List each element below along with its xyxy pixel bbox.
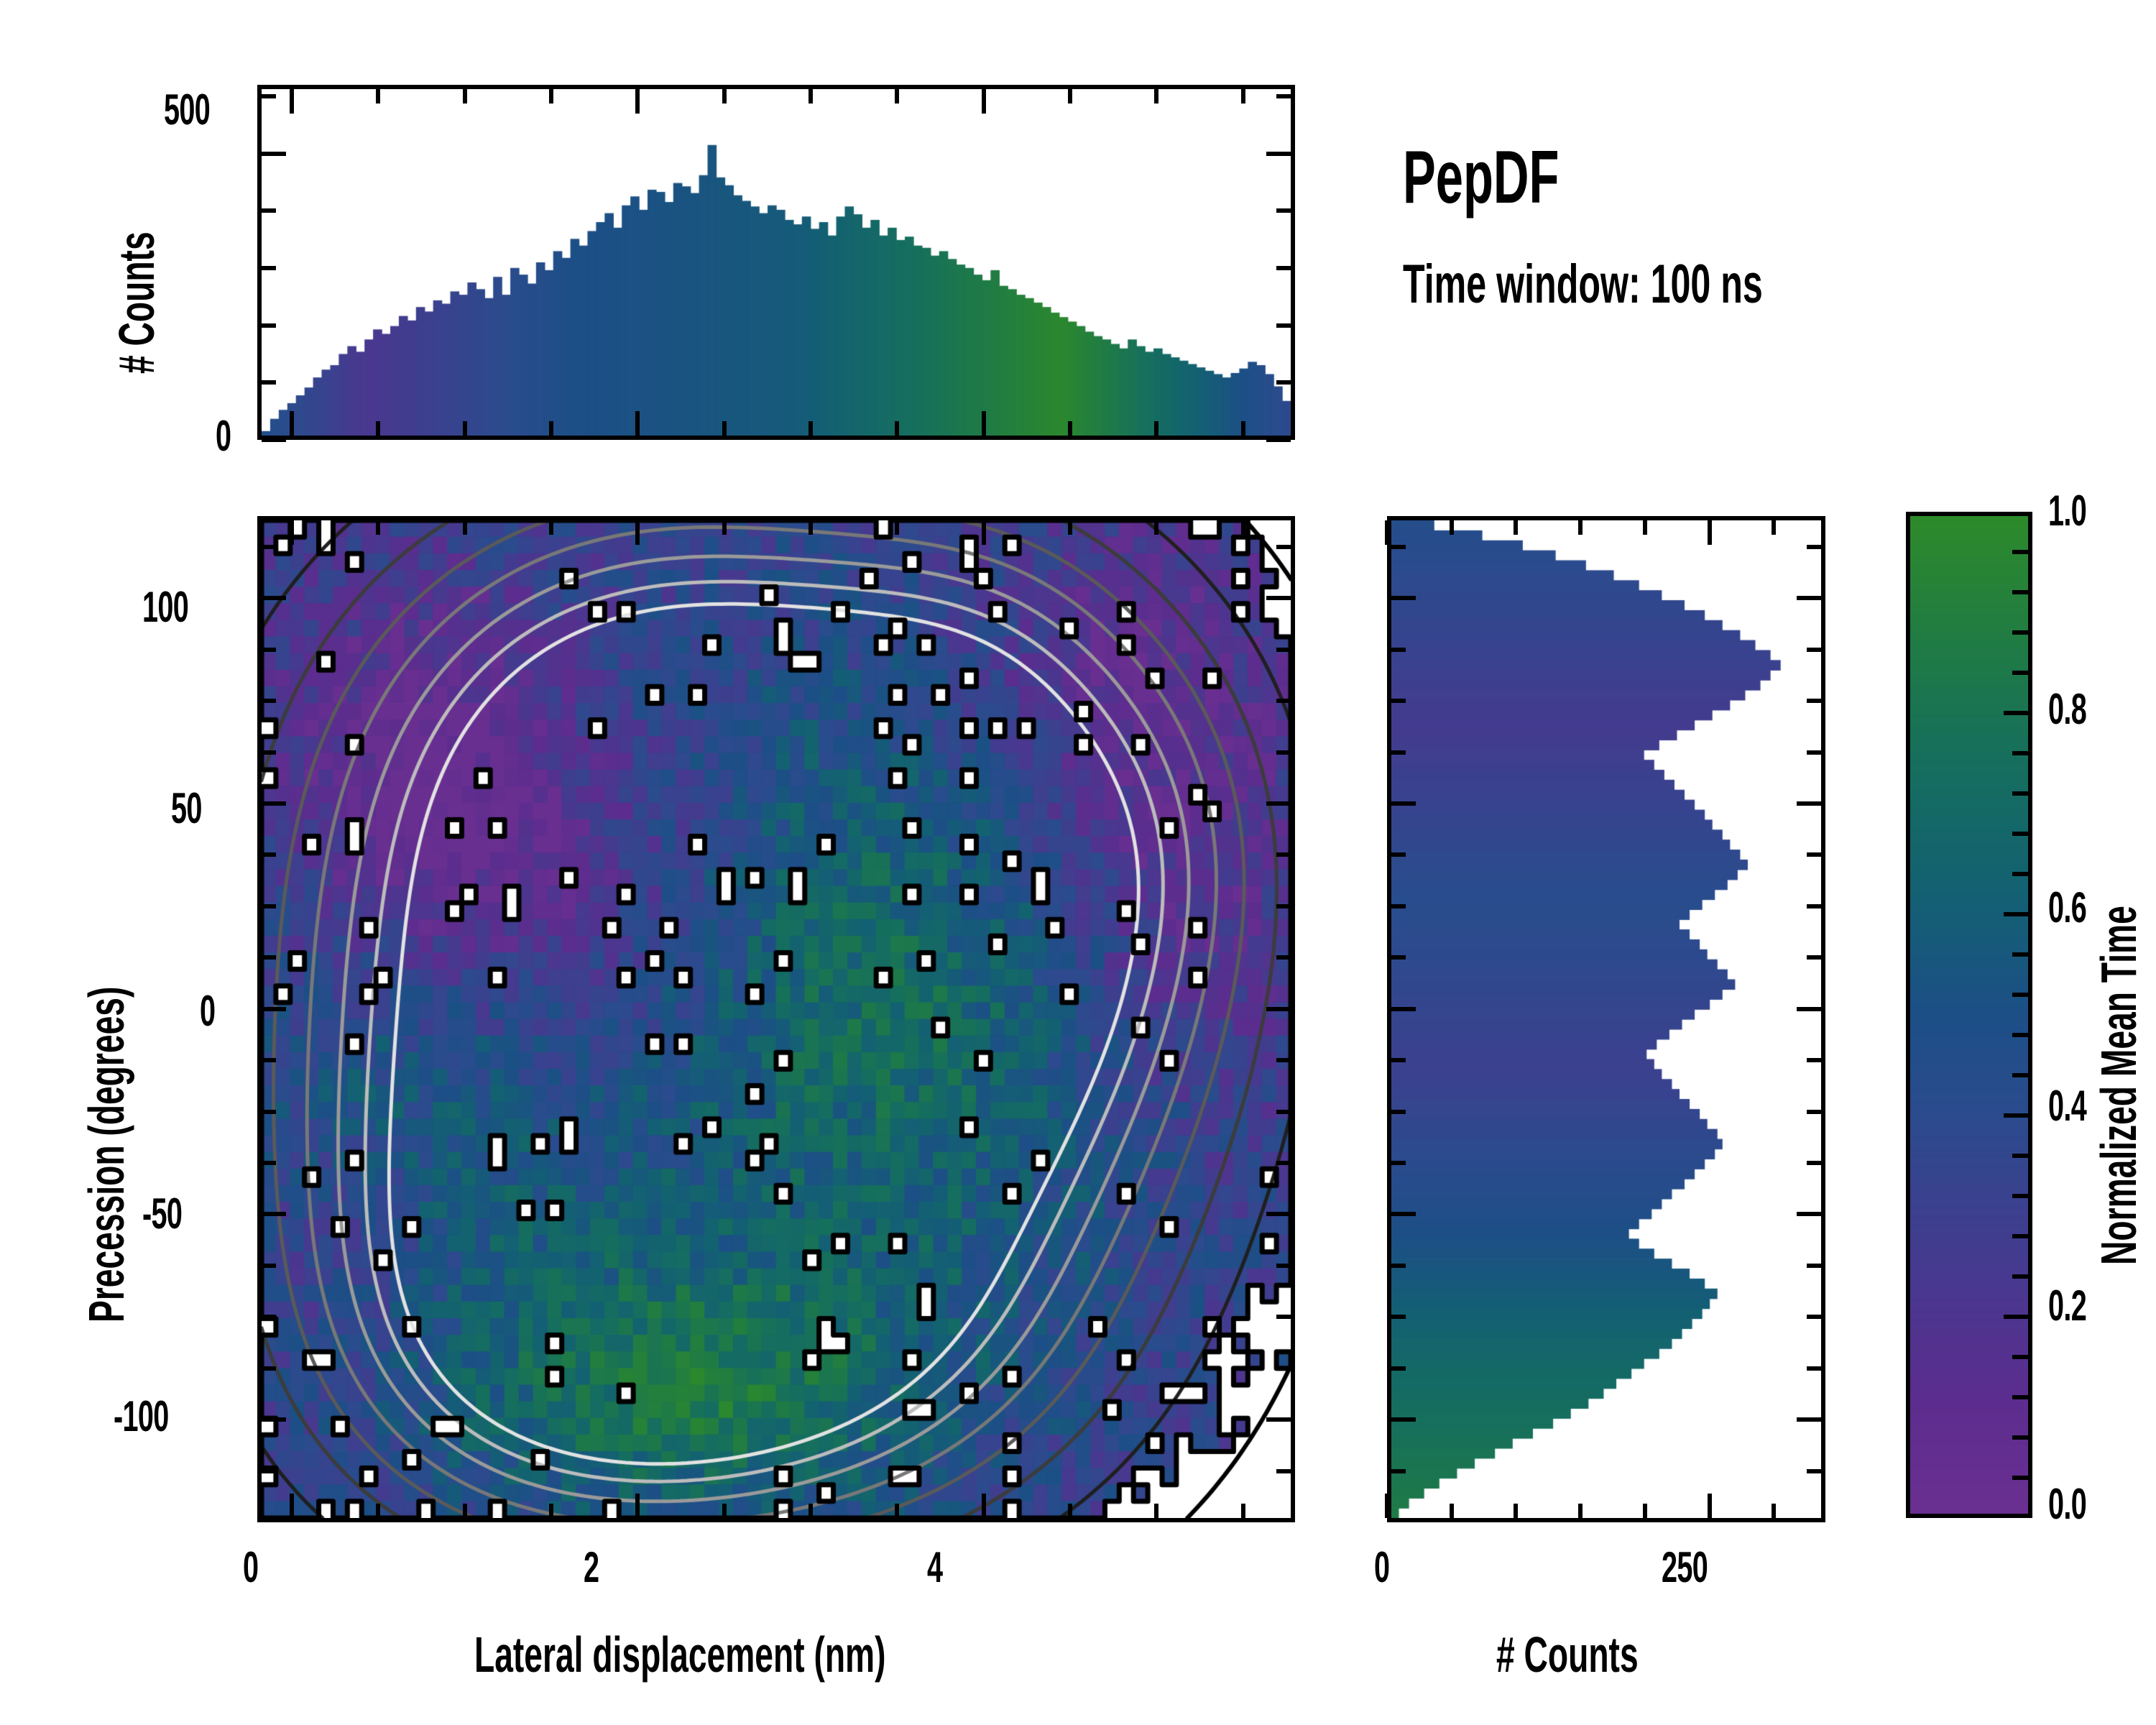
tick-mark [2012, 993, 2028, 997]
tick-mark [290, 520, 294, 545]
tick-mark [376, 520, 380, 535]
tick-mark [1807, 750, 1821, 755]
tick-mark [262, 801, 286, 806]
tick-mark [2012, 671, 2028, 675]
tick-mark [262, 380, 276, 385]
tick-mark [1391, 699, 1406, 703]
tick-mark [1385, 520, 1389, 545]
tick-mark [262, 1212, 286, 1216]
tick-mark [1276, 955, 1291, 960]
tick-mark [1068, 1504, 1072, 1518]
tick-mark [1391, 1469, 1406, 1473]
tick-mark [1154, 520, 1158, 535]
tick-mark [463, 89, 467, 103]
tick-mark [895, 1504, 899, 1518]
tick-mark [1391, 904, 1406, 908]
tick-mark [982, 520, 986, 545]
tick-mark [808, 520, 813, 535]
tick-mark [1276, 266, 1291, 270]
colorbar-tick-1.0: 1.0 [2048, 486, 2106, 535]
tick-mark [1514, 1504, 1518, 1518]
right-histogram-canvas [1391, 520, 1821, 1518]
tick-mark [895, 520, 899, 535]
tick-mark [808, 1504, 813, 1518]
tick-mark [262, 699, 276, 703]
tick-mark [1266, 1417, 1291, 1422]
tick-mark [1807, 904, 1821, 908]
colorbar-tick-0.0: 0.0 [2048, 1479, 2106, 1529]
right-hist-xlabel: # Counts [1496, 1626, 1711, 1683]
tick-mark [549, 520, 553, 535]
tick-mark [262, 545, 276, 549]
tick-mark [262, 1264, 276, 1268]
tick-mark [2012, 1476, 2028, 1480]
tick-mark [1154, 1504, 1158, 1518]
tick-mark [262, 852, 276, 857]
tick-mark [1276, 208, 1291, 213]
tick-mark [1241, 89, 1245, 103]
right-hist-xtick-250: 250 [1662, 1542, 1731, 1592]
tick-mark [722, 1504, 727, 1518]
tick-mark [262, 208, 276, 213]
tick-mark [722, 89, 727, 103]
colorbar [1906, 512, 2032, 1518]
tick-mark [2012, 630, 2028, 635]
tick-mark [262, 1161, 276, 1165]
tick-mark [2012, 590, 2028, 594]
tick-mark [1708, 520, 1712, 545]
tick-mark [635, 411, 640, 436]
tick-mark [549, 421, 553, 436]
tick-mark [1391, 1058, 1406, 1062]
main-xtick-0: 0 [243, 1542, 266, 1592]
tick-mark [635, 520, 640, 545]
right-hist-xtick-0: 0 [1374, 1542, 1397, 1592]
tick-mark [1391, 596, 1416, 600]
tick-mark [1154, 421, 1158, 436]
tick-mark [1391, 750, 1406, 755]
tick-mark [1276, 750, 1291, 755]
colorbar-tick-0.2: 0.2 [2048, 1281, 2106, 1330]
tick-mark [2004, 912, 2028, 916]
tick-mark [262, 1315, 276, 1319]
tick-mark [1807, 1366, 1821, 1371]
tick-mark [1708, 1494, 1712, 1518]
main-ytick-neg50: -50 [142, 1189, 203, 1238]
tick-mark [376, 421, 380, 436]
tick-mark [262, 438, 286, 442]
tick-mark [1276, 852, 1291, 857]
tick-mark [982, 1494, 986, 1518]
tick-mark [262, 266, 276, 270]
tick-mark [2004, 1315, 2028, 1319]
tick-mark [635, 89, 640, 114]
main-xtick-2: 2 [584, 1542, 607, 1592]
tick-mark [2012, 1234, 2028, 1238]
tick-mark [722, 520, 727, 535]
tick-mark [1450, 520, 1454, 535]
top-hist-ytick-0: 0 [216, 411, 239, 461]
tick-mark [2012, 550, 2028, 554]
tick-mark [1807, 1264, 1821, 1268]
tick-mark [1266, 596, 1291, 600]
tick-mark [1391, 1417, 1416, 1422]
tick-mark [1276, 1366, 1291, 1371]
tick-mark [290, 411, 294, 436]
tick-mark [1276, 1264, 1291, 1268]
right-histogram-panel [1387, 516, 1825, 1522]
tick-mark [262, 648, 276, 652]
tick-mark [262, 904, 276, 908]
tick-mark [1807, 1161, 1821, 1165]
main-heatmap-canvas [262, 520, 1291, 1518]
tick-mark [262, 1469, 276, 1473]
tick-mark [1276, 323, 1291, 328]
tick-mark [1578, 520, 1583, 535]
figure-subtitle: Time window: 100 ns [1403, 253, 1948, 316]
tick-mark [262, 1007, 286, 1011]
tick-mark [1276, 380, 1291, 385]
tick-mark [2012, 952, 2028, 957]
figure-root: 500 0 # Counts PepDF Time window: 100 ns… [0, 0, 2156, 1725]
tick-mark [1807, 1315, 1821, 1319]
main-ylabel: Precession (degrees) [78, 814, 135, 1322]
tick-mark [2004, 1113, 2028, 1118]
tick-mark [1391, 1110, 1406, 1114]
tick-mark [1266, 1007, 1291, 1011]
tick-mark [1276, 904, 1291, 908]
top-histogram-panel [257, 85, 1295, 440]
colorbar-gradient [1910, 516, 2028, 1514]
top-hist-ytick-500: 500 [164, 85, 234, 134]
tick-mark [982, 89, 986, 114]
tick-mark [1797, 1007, 1821, 1011]
tick-mark [262, 152, 286, 156]
tick-mark [1807, 1058, 1821, 1062]
tick-mark [2012, 1154, 2028, 1158]
tick-mark [895, 421, 899, 436]
main-ytick-50: 50 [171, 783, 218, 833]
tick-mark [808, 421, 813, 436]
tick-mark [1391, 648, 1406, 652]
tick-mark [262, 750, 276, 755]
tick-mark [262, 955, 276, 960]
top-histogram-canvas [262, 89, 1291, 436]
tick-mark [1391, 1264, 1406, 1268]
tick-mark [1276, 94, 1291, 98]
tick-mark [1391, 852, 1406, 857]
tick-mark [2012, 791, 2028, 796]
tick-mark [2012, 1274, 2028, 1279]
tick-mark [262, 1058, 276, 1062]
tick-mark [1514, 520, 1518, 535]
tick-mark [1276, 545, 1291, 549]
tick-mark [1241, 1504, 1245, 1518]
tick-mark [1068, 421, 1072, 436]
tick-mark [1807, 852, 1821, 857]
tick-mark [1241, 421, 1245, 436]
tick-mark [2012, 1033, 2028, 1037]
tick-mark [1391, 955, 1406, 960]
tick-mark [549, 89, 553, 103]
tick-mark [2012, 872, 2028, 876]
tick-mark [2012, 1435, 2028, 1440]
tick-mark [1266, 801, 1291, 806]
tick-mark [1391, 801, 1416, 806]
main-heatmap-panel [257, 516, 1295, 1522]
tick-mark [1276, 1058, 1291, 1062]
main-ytick-neg100: -100 [114, 1391, 197, 1441]
tick-mark [290, 1494, 294, 1518]
tick-mark [1450, 1504, 1454, 1518]
tick-mark [635, 1494, 640, 1518]
tick-mark [2012, 1073, 2028, 1077]
tick-mark [1807, 545, 1821, 549]
tick-mark [1391, 1366, 1406, 1371]
colorbar-label: Normalized Mean Time [2090, 721, 2147, 1265]
tick-mark [895, 89, 899, 103]
tick-mark [1772, 520, 1776, 535]
tick-mark [262, 1417, 286, 1422]
main-ytick-0: 0 [200, 986, 223, 1036]
tick-mark [1241, 520, 1245, 535]
tick-mark [1391, 1212, 1416, 1216]
tick-mark [2004, 711, 2028, 715]
tick-mark [1276, 1110, 1291, 1114]
tick-mark [1797, 801, 1821, 806]
tick-mark [1772, 1504, 1776, 1518]
tick-mark [722, 421, 727, 436]
tick-mark [1797, 1417, 1821, 1422]
tick-mark [1266, 1212, 1291, 1216]
tick-mark [549, 1504, 553, 1518]
tick-mark [1807, 1469, 1821, 1473]
tick-mark [1807, 648, 1821, 652]
tick-mark [1797, 1212, 1821, 1216]
tick-mark [1391, 1007, 1416, 1011]
main-xlabel: Lateral displacement (nm) [474, 1626, 1097, 1683]
tick-mark [262, 323, 276, 328]
tick-mark [1643, 520, 1647, 535]
tick-mark [1266, 438, 1291, 442]
tick-mark [1578, 1504, 1583, 1518]
main-ytick-100: 100 [142, 582, 212, 632]
tick-mark [376, 1504, 380, 1518]
tick-mark [376, 89, 380, 103]
tick-mark [1276, 1469, 1291, 1473]
tick-mark [2012, 751, 2028, 755]
tick-mark [1276, 1161, 1291, 1165]
tick-mark [1807, 699, 1821, 703]
tick-mark [2012, 1194, 2028, 1198]
tick-mark [290, 89, 294, 114]
tick-mark [1807, 955, 1821, 960]
tick-mark [1266, 152, 1291, 156]
tick-mark [1391, 1315, 1406, 1319]
tick-mark [1391, 1161, 1406, 1165]
tick-mark [262, 1110, 276, 1114]
tick-mark [262, 1366, 276, 1371]
tick-mark [463, 520, 467, 535]
tick-mark [1068, 89, 1072, 103]
tick-mark [1276, 1315, 1291, 1319]
tick-mark [2012, 832, 2028, 836]
top-hist-ylabel: # Counts [108, 159, 165, 374]
tick-mark [2012, 1395, 2028, 1399]
tick-mark [982, 411, 986, 436]
tick-mark [1276, 699, 1291, 703]
figure-title: PepDF [1403, 135, 1639, 221]
tick-mark [808, 89, 813, 103]
tick-mark [1797, 596, 1821, 600]
tick-mark [1154, 89, 1158, 103]
tick-mark [463, 1504, 467, 1518]
tick-mark [1807, 1110, 1821, 1114]
tick-mark [1276, 648, 1291, 652]
tick-mark [1643, 1504, 1647, 1518]
tick-mark [1391, 545, 1406, 549]
tick-mark [1068, 520, 1072, 535]
tick-mark [262, 596, 286, 600]
tick-mark [1385, 1494, 1389, 1518]
tick-mark [262, 94, 276, 98]
tick-mark [2012, 1355, 2028, 1359]
main-xtick-4: 4 [927, 1542, 950, 1592]
tick-mark [463, 421, 467, 436]
